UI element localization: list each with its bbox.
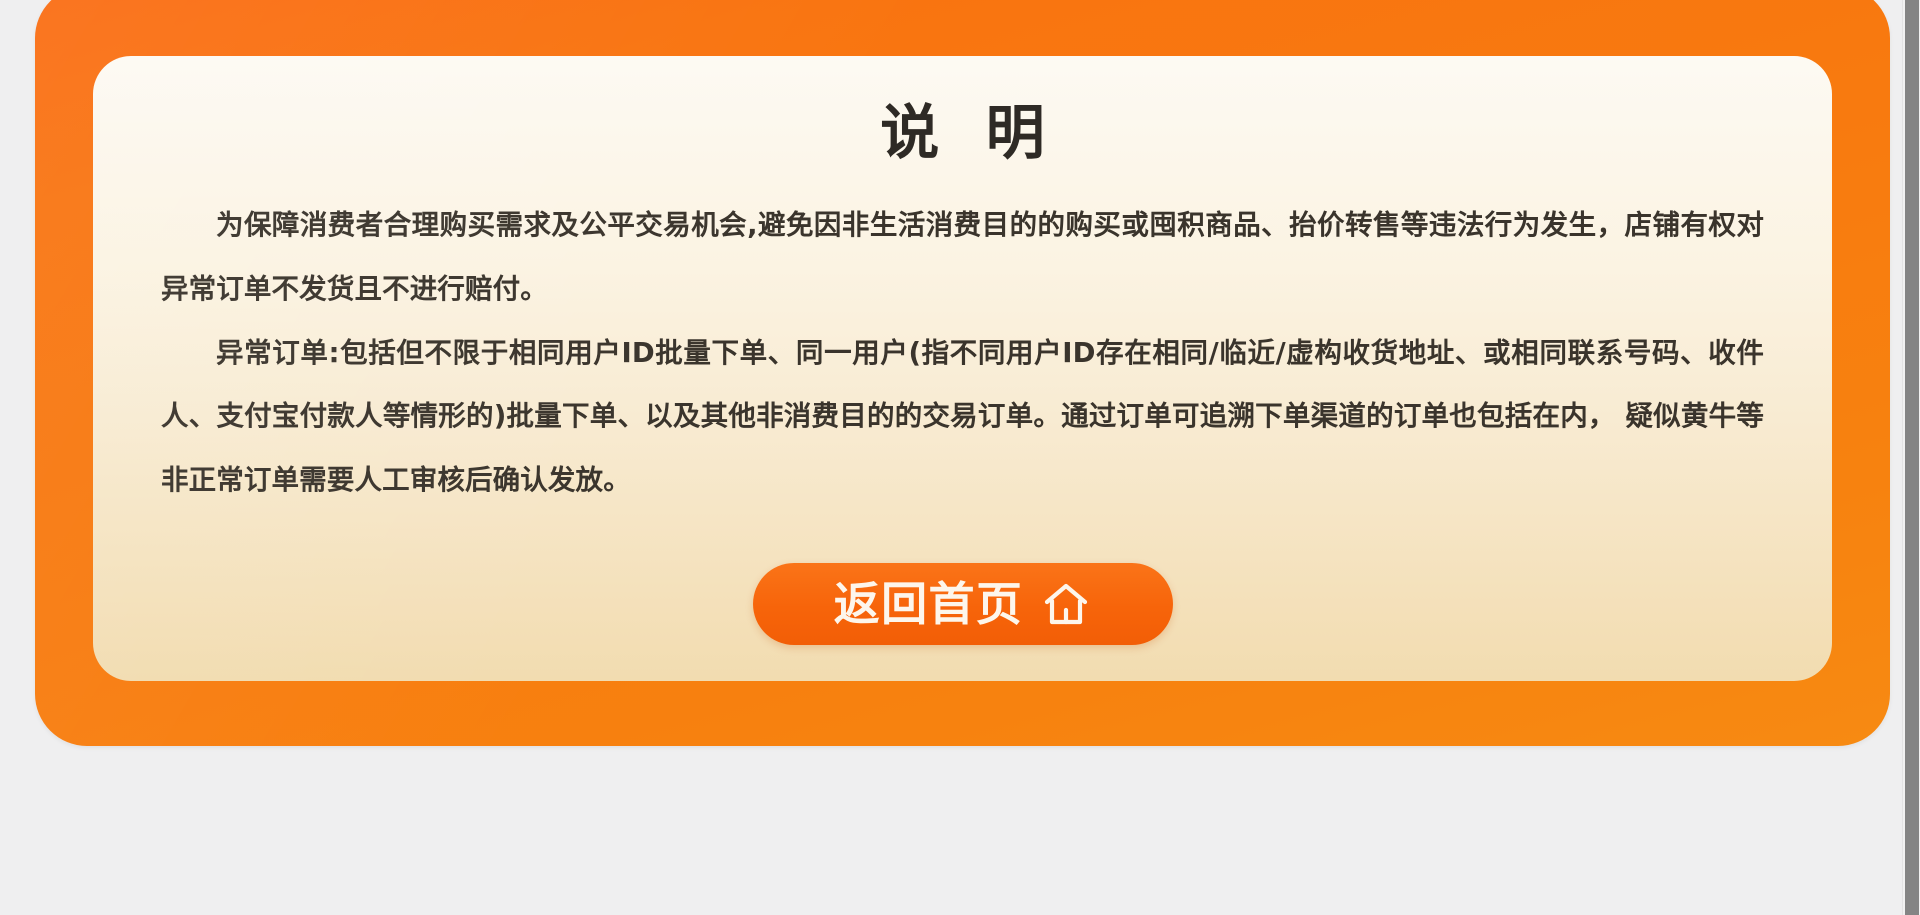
return-home-button[interactable]: 返回首页	[753, 563, 1173, 645]
return-home-label: 返回首页	[834, 581, 1024, 627]
notice-paragraph-2: 异常订单:包括但不限于相同用户ID批量下单、同一用户(指不同用户ID存在相同/临…	[161, 322, 1764, 513]
page-title: 说 明	[93, 56, 1832, 164]
orange-frame-border: 说 明 为保障消费者合理购买需求及公平交易机会,避免因非生活消费目的的购买或囤积…	[35, 0, 1890, 746]
home-icon	[1041, 579, 1091, 629]
scrollbar-thumb[interactable]	[1905, 0, 1919, 915]
scrollbar-track[interactable]	[1902, 0, 1920, 915]
page-root: 说 明 为保障消费者合理购买需求及公平交易机会,避免因非生活消费目的的购买或囤积…	[0, 0, 1920, 915]
cta-container: 返回首页	[93, 563, 1832, 645]
notice-paragraph-1: 为保障消费者合理购买需求及公平交易机会,避免因非生活消费目的的购买或囤积商品、抬…	[161, 194, 1764, 322]
notice-card: 说 明 为保障消费者合理购买需求及公平交易机会,避免因非生活消费目的的购买或囤积…	[93, 56, 1832, 681]
notice-body: 为保障消费者合理购买需求及公平交易机会,避免因非生活消费目的的购买或囤积商品、抬…	[93, 164, 1832, 513]
